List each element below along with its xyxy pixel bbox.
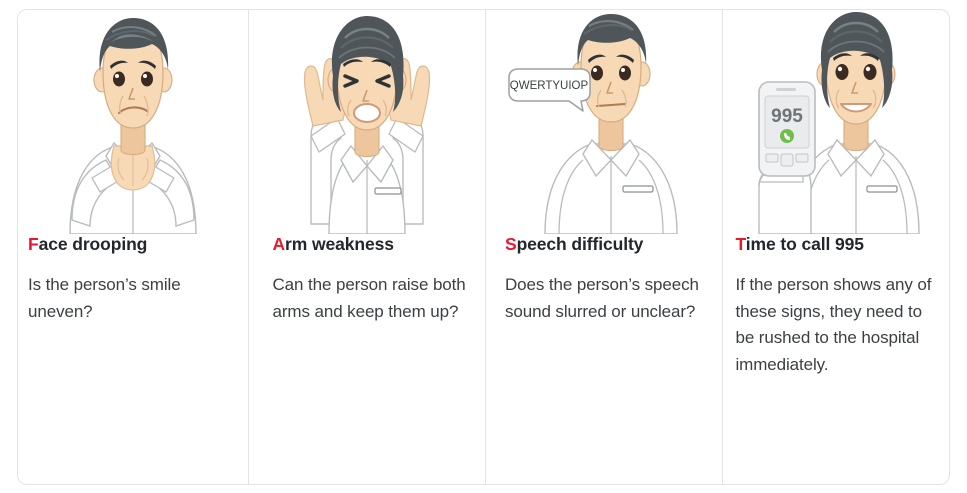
illustration-time-to-call: 995	[723, 10, 949, 234]
illustration-speech-difficulty: QWERTYUIOP	[486, 10, 722, 234]
speech-bubble-text: QWERTYUIOP	[510, 80, 589, 92]
card-speech-title-rest: peech difficulty	[517, 234, 644, 254]
card-face-title: Face drooping	[28, 234, 239, 254]
screenshot-root: Face drooping Is the person’s smile unev…	[0, 0, 967, 493]
illustration-face-drooping	[18, 10, 248, 234]
card-arm-text: Arm weakness Can the person raise both a…	[249, 234, 485, 325]
card-speech-body: Does the person’s speech sound slurred o…	[505, 272, 713, 325]
illustration-arm-weakness	[249, 10, 485, 234]
shirt-body	[545, 140, 677, 234]
card-arm-lead-letter: A	[273, 234, 286, 254]
card-face[interactable]: Face drooping Is the person’s smile unev…	[18, 10, 249, 484]
mobile-phone: 995	[759, 82, 815, 176]
card-time-body: If the person shows any of these signs, …	[735, 272, 940, 378]
card-speech[interactable]: QWERTYUIOP Speech difficulty Does the pe…	[486, 10, 723, 484]
card-face-lead-letter: F	[28, 234, 39, 254]
card-arm[interactable]: Arm weakness Can the person raise both a…	[249, 10, 486, 484]
card-face-text: Face drooping Is the person’s smile unev…	[18, 234, 248, 325]
speech-bubble: QWERTYUIOP	[509, 69, 590, 111]
card-time[interactable]: 995	[723, 10, 949, 484]
card-arm-body: Can the person raise both arms and keep …	[273, 272, 476, 325]
shirt-body	[329, 146, 405, 234]
card-time-title: Time to call 995	[735, 234, 940, 254]
card-time-title-rest: ime to call 995	[746, 234, 864, 254]
card-arm-title: Arm weakness	[273, 234, 476, 254]
card-face-title-rest: ace drooping	[39, 234, 148, 254]
head	[94, 18, 172, 128]
card-speech-lead-letter: S	[505, 234, 517, 254]
card-arm-title-rest: rm weakness	[285, 234, 394, 254]
head	[817, 12, 895, 124]
fast-cards-container: Face drooping Is the person’s smile unev…	[17, 9, 950, 485]
head	[572, 14, 650, 122]
card-speech-title: Speech difficulty	[505, 234, 713, 254]
card-time-text: Time to call 995 If the person shows any…	[723, 234, 949, 378]
phone-screen-number: 995	[771, 106, 803, 127]
card-face-body: Is the person’s smile uneven?	[28, 272, 239, 325]
card-time-lead-letter: T	[735, 234, 745, 254]
card-speech-text: Speech difficulty Does the person’s spee…	[486, 234, 722, 325]
